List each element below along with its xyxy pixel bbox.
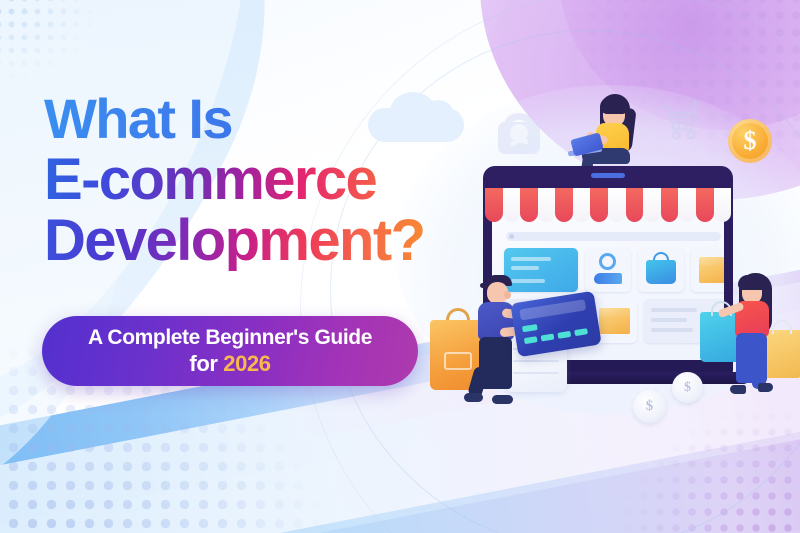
product-card-box-1[interactable] bbox=[691, 248, 724, 292]
shoe-left bbox=[464, 393, 483, 402]
woman-with-shopping-bags bbox=[722, 273, 794, 408]
ecommerce-banner: What Is E-commerce Development? A Comple… bbox=[0, 0, 800, 533]
laptop-camera-bar bbox=[591, 173, 625, 178]
subtitle-badge: A Complete Beginner's Guide for 2026 bbox=[42, 316, 418, 386]
subtitle-prefix: for bbox=[189, 351, 223, 376]
ring-icon bbox=[599, 253, 616, 270]
headline-line-1: What Is bbox=[44, 88, 514, 149]
box-icon bbox=[599, 313, 630, 334]
storefront-awning-icon bbox=[485, 188, 731, 222]
subtitle-line-2: for 2026 bbox=[189, 350, 270, 377]
product-card-shoe[interactable] bbox=[585, 248, 631, 292]
hair-front bbox=[600, 97, 627, 114]
hair-front bbox=[738, 275, 766, 290]
card-stripe bbox=[519, 299, 586, 320]
gear-coin-icon-2: $ bbox=[672, 372, 703, 403]
woman-with-laptop bbox=[566, 92, 652, 176]
search-input[interactable] bbox=[506, 232, 721, 241]
box-lid-icon bbox=[599, 308, 630, 316]
bag-icon bbox=[646, 260, 676, 284]
headline-block: What Is E-commerce Development? bbox=[44, 88, 514, 271]
shoe-right bbox=[758, 383, 773, 392]
shoe-left bbox=[730, 385, 746, 394]
gear-coin-icon-1: $ bbox=[633, 390, 666, 423]
shoe-icon bbox=[594, 273, 622, 284]
shopping-cart-icon bbox=[657, 99, 703, 143]
headline-line-2: E-commerce bbox=[44, 149, 514, 210]
subtitle-year: 2026 bbox=[223, 351, 270, 376]
card-chip bbox=[522, 324, 538, 332]
dollar-coin-icon: $ bbox=[728, 119, 772, 163]
ear bbox=[504, 291, 511, 299]
headline-line-3: Development? bbox=[44, 210, 514, 271]
box-lid-icon bbox=[699, 257, 724, 265]
subtitle-line-1: A Complete Beginner's Guide bbox=[88, 325, 372, 350]
product-card-bag[interactable] bbox=[638, 248, 684, 292]
shoe-right bbox=[492, 395, 513, 404]
box-icon bbox=[699, 262, 724, 283]
